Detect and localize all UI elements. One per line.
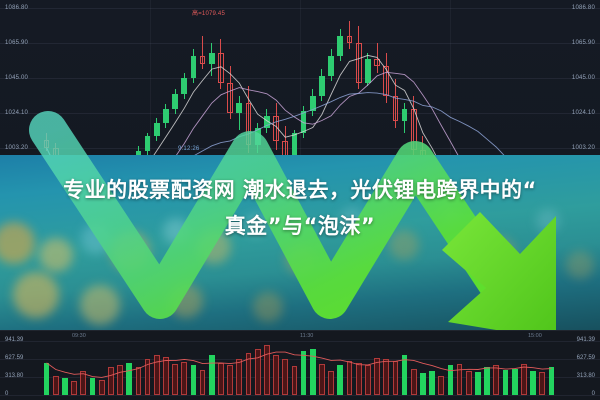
volume-bar: [71, 381, 77, 395]
volume-axis-label: 941.39: [577, 337, 595, 343]
volume-bar: [145, 359, 151, 395]
volume-bar: [126, 363, 132, 395]
volume-bar: [154, 355, 160, 395]
headline-line-1: 专业的股票配资网 潮水退去，光伏锂电跨界中的“: [63, 178, 537, 202]
volume-bar: [53, 376, 59, 395]
volume-bar: [292, 366, 298, 395]
volume-bar: [255, 349, 261, 395]
volume-bar: [246, 353, 252, 395]
volume-bar: [209, 355, 215, 395]
volume-bar: [80, 371, 86, 395]
volume-bar: [448, 365, 454, 395]
volume-bar: [264, 345, 270, 395]
time-axis-label: 09:30: [72, 333, 86, 339]
time-axis-label: 15:00: [528, 333, 542, 339]
volume-bar: [200, 370, 206, 395]
volume-bar: [136, 367, 142, 395]
volume-bar: [108, 367, 114, 395]
volume-bar: [310, 349, 316, 395]
volume-bar: [383, 359, 389, 395]
volume-axis-label: 313.80: [5, 373, 23, 379]
volume-bar: [530, 371, 536, 395]
volume-bar: [163, 357, 169, 395]
volume-bar: [301, 351, 307, 395]
volume-bar: [420, 373, 426, 395]
volume-bar: [429, 371, 435, 395]
volume-bar: [337, 365, 343, 395]
volume-bar: [365, 365, 371, 395]
volume-bar: [328, 371, 334, 395]
volume-bar: [62, 378, 68, 395]
volume-bar: [181, 362, 187, 395]
stock-chart-banner-image: 1086.801065.901045.001024.101003.20982.3…: [0, 0, 600, 400]
volume-bar: [191, 365, 197, 395]
volume-bar: [475, 372, 481, 395]
volume-bar: [347, 361, 353, 395]
volume-bar: [117, 365, 123, 395]
headline-text: 专业的股票配资网 潮水退去，光伏锂电跨界中的“ 真金”与“泡沫”: [0, 172, 600, 244]
volume-bar: [374, 358, 380, 395]
volume-bar: [521, 364, 527, 395]
time-axis-label: 11:30: [300, 333, 313, 339]
gridline: [0, 341, 600, 342]
volume-axis-label: 0: [592, 391, 595, 397]
volume-bar: [172, 364, 178, 395]
volume-bar: [99, 380, 105, 395]
volume-bar: [457, 364, 463, 395]
volume-bar: [227, 365, 233, 395]
volume-bar: [512, 369, 518, 395]
volume-bar: [438, 376, 444, 396]
volume-chart-panel: 941.39627.59313.800 941.39627.59313.800 …: [0, 330, 600, 400]
volume-bar: [282, 359, 288, 395]
volume-axis-label: 0: [5, 391, 8, 397]
volume-bar: [466, 371, 472, 395]
volume-bar: [402, 355, 408, 395]
volume-axis-label: 627.59: [5, 355, 23, 361]
volume-bar: [356, 363, 362, 395]
volume-bar: [411, 369, 417, 395]
gridline: [0, 395, 600, 396]
volume-bar: [493, 365, 499, 395]
volume-bar: [393, 361, 399, 395]
volume-axis-label: 313.80: [577, 373, 595, 379]
volume-bar: [218, 363, 224, 395]
volume-bar: [319, 364, 325, 395]
headline-line-2: 真金”与“泡沫”: [0, 208, 600, 244]
volume-bar: [549, 367, 555, 395]
volume-bar: [539, 372, 545, 395]
volume-bar: [90, 378, 96, 395]
volume-axis-label: 627.59: [577, 355, 595, 361]
volume-bar: [503, 370, 509, 395]
volume-axis-label: 941.39: [5, 337, 23, 343]
volume-bar: [44, 363, 50, 395]
volume-bar: [484, 367, 490, 395]
volume-bar: [273, 355, 279, 395]
volume-bar: [236, 359, 242, 395]
